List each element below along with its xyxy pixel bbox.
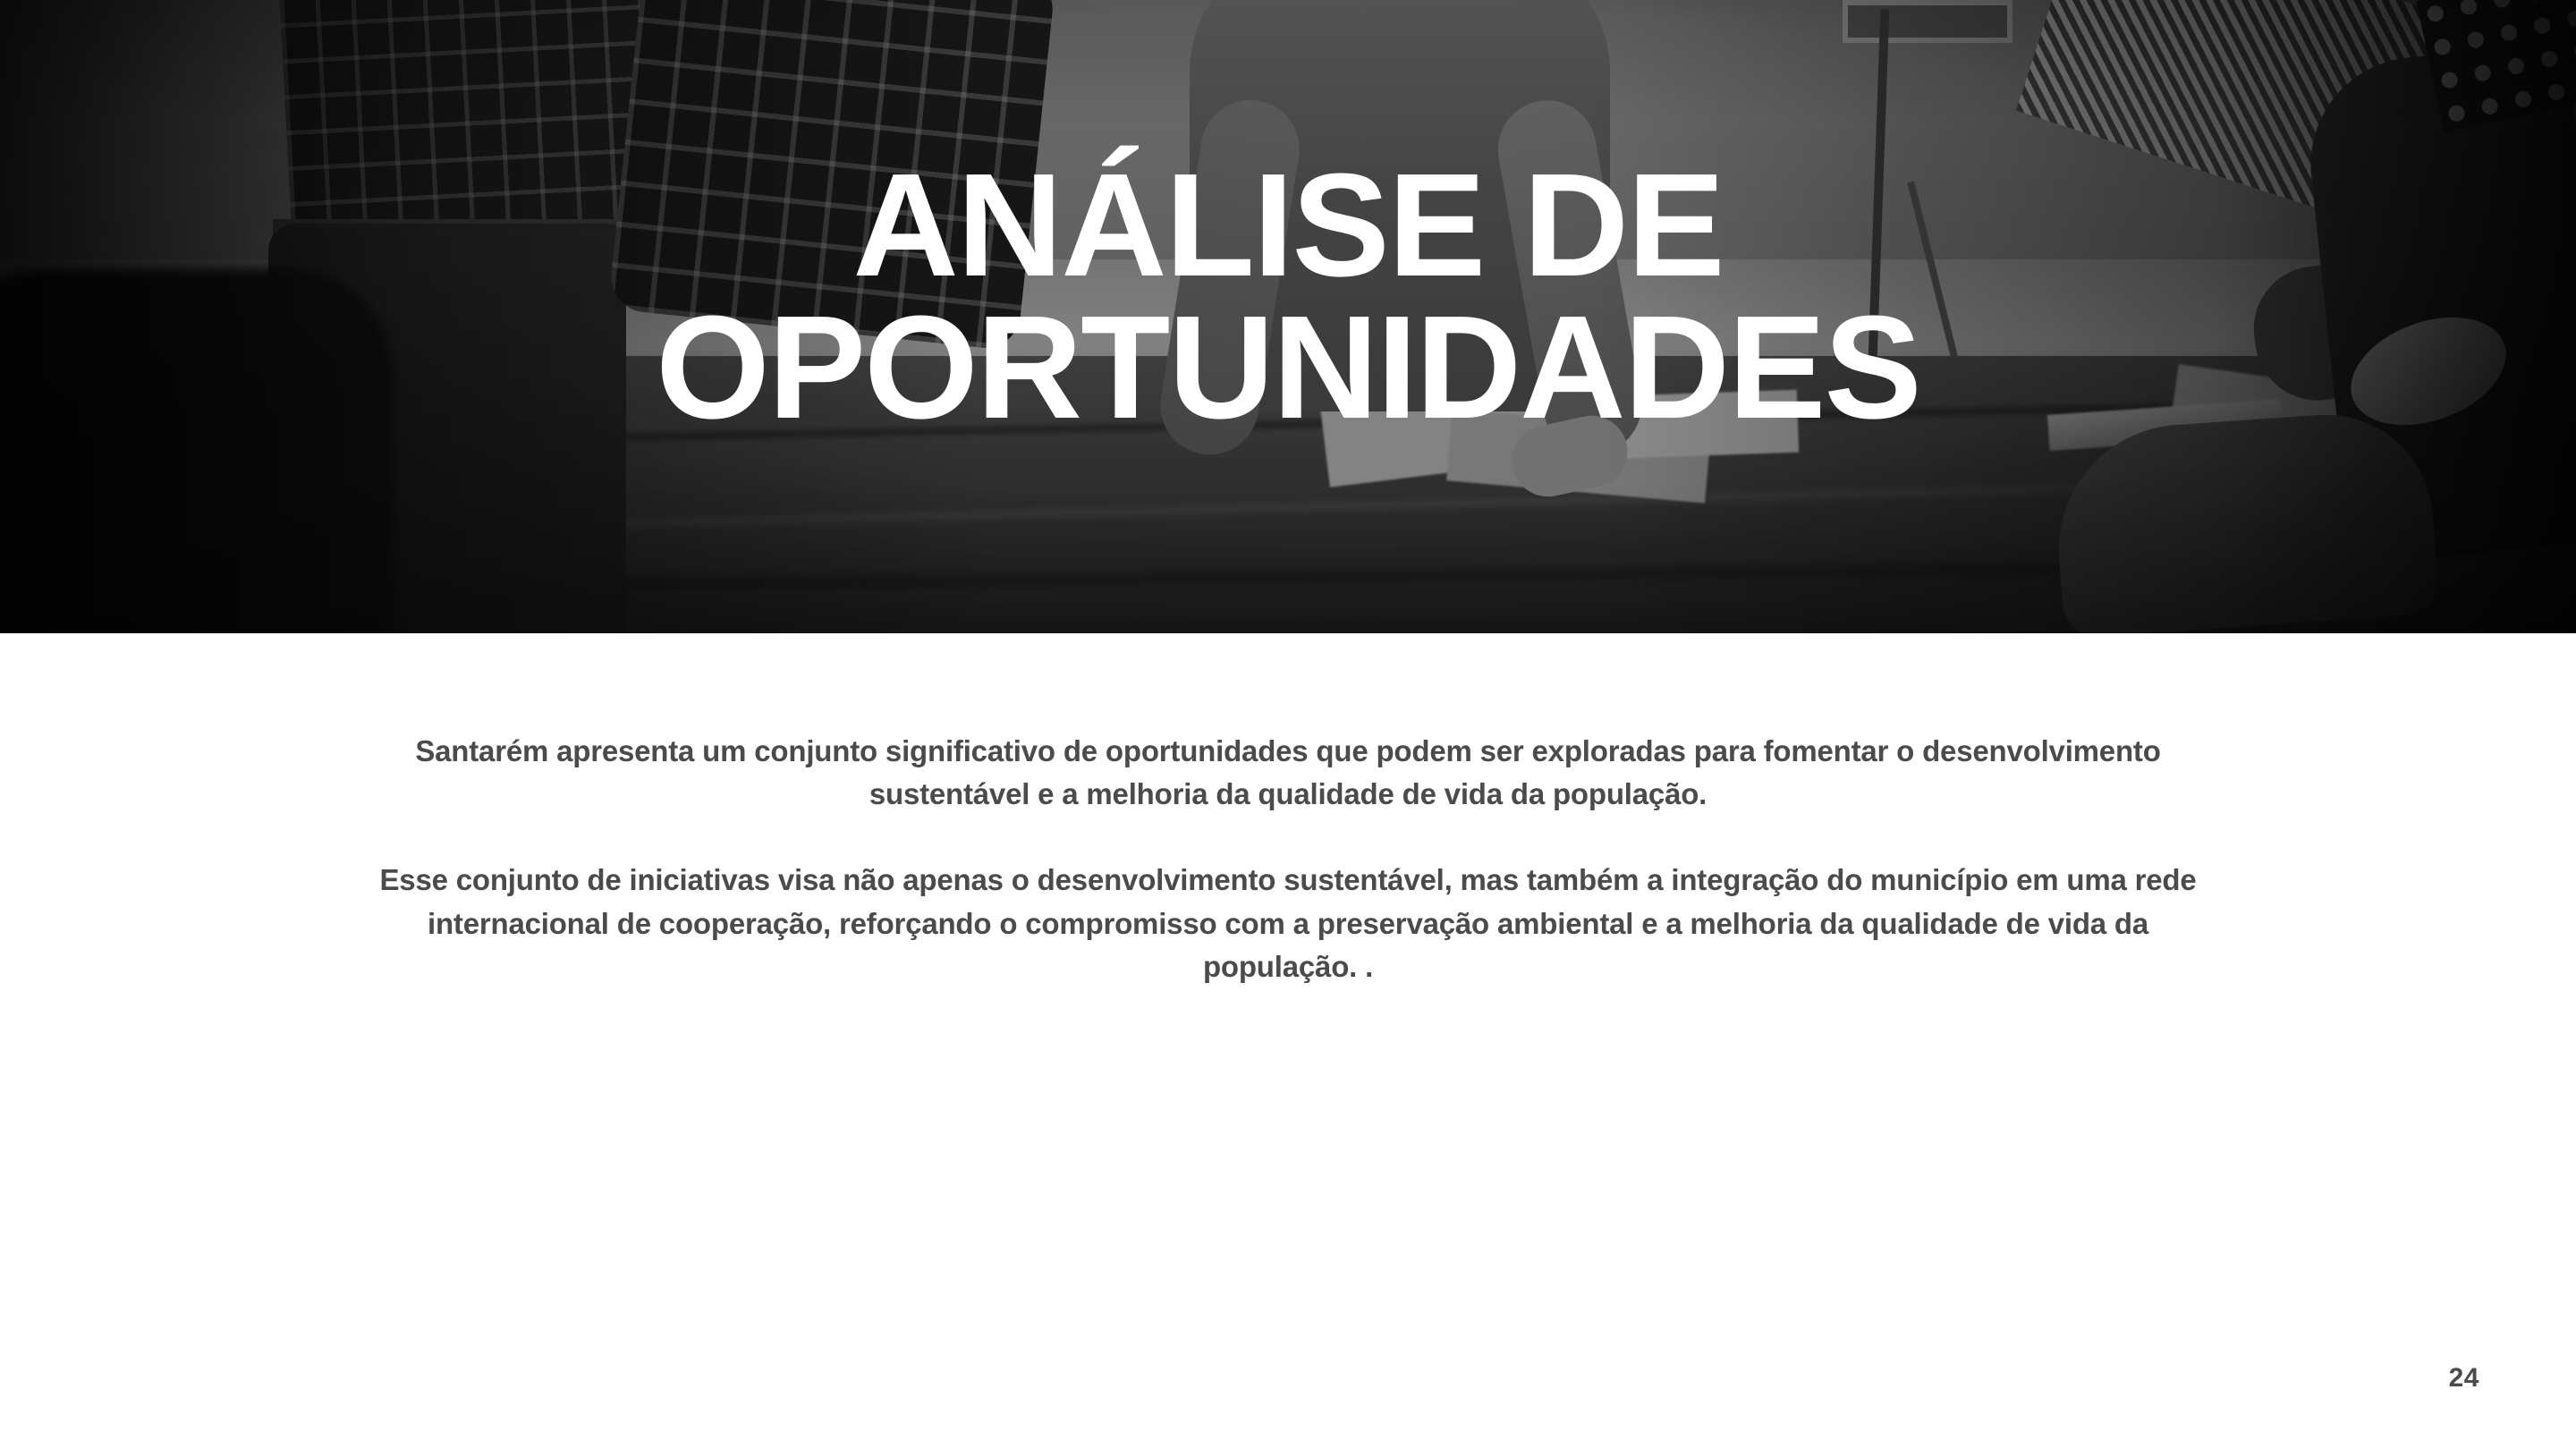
hero-banner: ANÁLISE DE OPORTUNIDADES (0, 0, 2576, 633)
paragraph-2: Esse conjunto de iniciativas visa não ap… (349, 859, 2227, 988)
page-title-line-1: ANÁLISE DE (0, 154, 2576, 296)
paragraph-block: Santarém apresenta um conjunto significa… (349, 730, 2227, 988)
page-title-line-2: OPORTUNIDADES (0, 296, 2576, 438)
slide: ANÁLISE DE OPORTUNIDADES Santarém aprese… (0, 0, 2576, 1449)
paragraph-1: Santarém apresenta um conjunto significa… (349, 730, 2227, 816)
page-number: 24 (2449, 1363, 2479, 1394)
page-title: ANÁLISE DE OPORTUNIDADES (0, 154, 2576, 438)
content-area: Santarém apresenta um conjunto significa… (0, 633, 2576, 1449)
